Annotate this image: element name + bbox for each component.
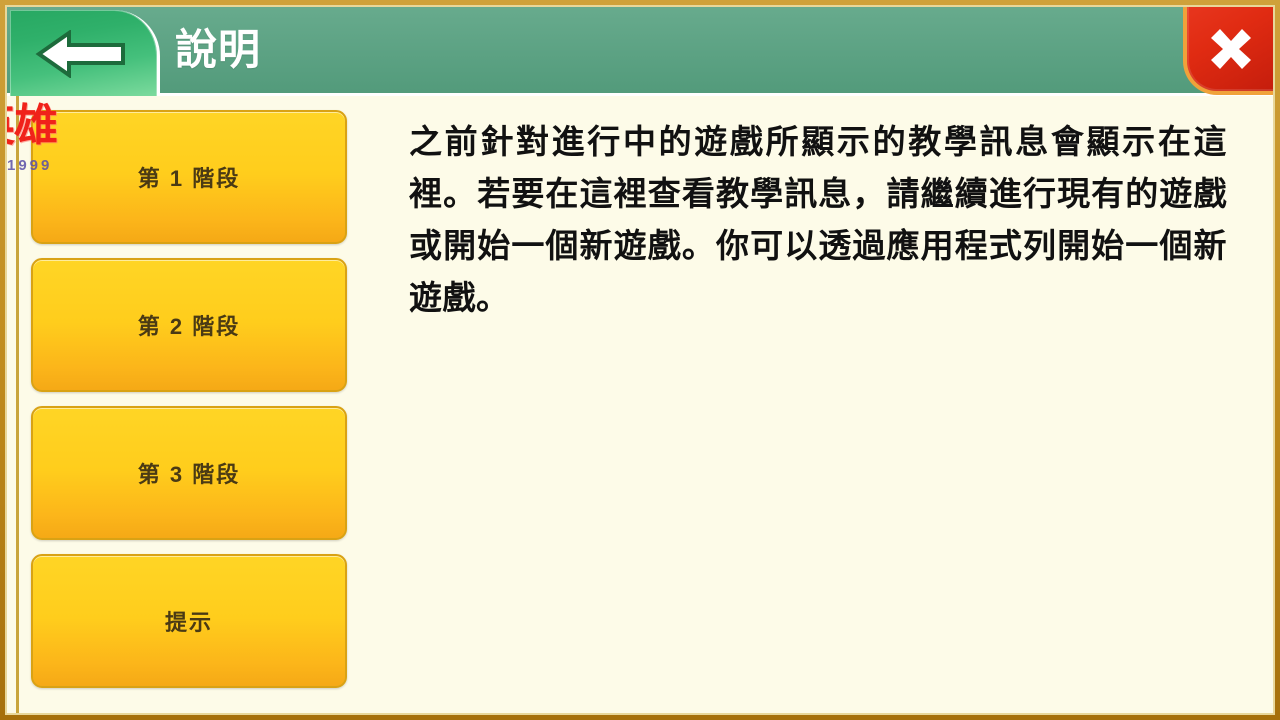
window-frame-inner: 說明 第 1 階段 第 2 階段 第 3 階段 — [5, 5, 1275, 715]
sidebar-button-stage-3[interactable]: 第 3 階段 — [31, 406, 347, 540]
stage-button-label: 第 2 階段 — [138, 309, 240, 341]
sidebar-button-stage-1[interactable]: 第 1 階段 — [31, 110, 347, 244]
left-arrow-icon — [35, 30, 127, 78]
sidebar-button-stage-2[interactable]: 第 2 階段 — [31, 258, 347, 392]
content-area: 第 1 階段 第 2 階段 第 3 階段 提示 英雄 天融1999 之 — [7, 96, 1273, 713]
help-text: 之前針對進行中的遊戲所顯示的教學訊息會顯示在這裡。若要在這裡查看教學訊息，請繼續… — [409, 116, 1227, 324]
stage-button-label: 第 1 階段 — [138, 161, 240, 193]
back-button[interactable] — [10, 10, 160, 100]
titlebar: 說明 — [7, 7, 1273, 96]
close-x-icon — [1207, 25, 1255, 73]
page-title: 說明 — [175, 29, 261, 71]
help-panel: 之前針對進行中的遊戲所顯示的教學訊息會顯示在這裡。若要在這裡查看教學訊息，請繼續… — [365, 96, 1273, 713]
stage-button-label: 提示 — [165, 605, 213, 637]
sidebar: 第 1 階段 第 2 階段 第 3 階段 提示 英雄 天融1999 — [7, 96, 365, 713]
close-button[interactable] — [1183, 5, 1275, 95]
stage-button-label: 第 3 階段 — [138, 457, 240, 489]
sidebar-button-hint[interactable]: 提示 — [31, 554, 347, 688]
app-window: 說明 第 1 階段 第 2 階段 第 3 階段 — [0, 0, 1280, 720]
